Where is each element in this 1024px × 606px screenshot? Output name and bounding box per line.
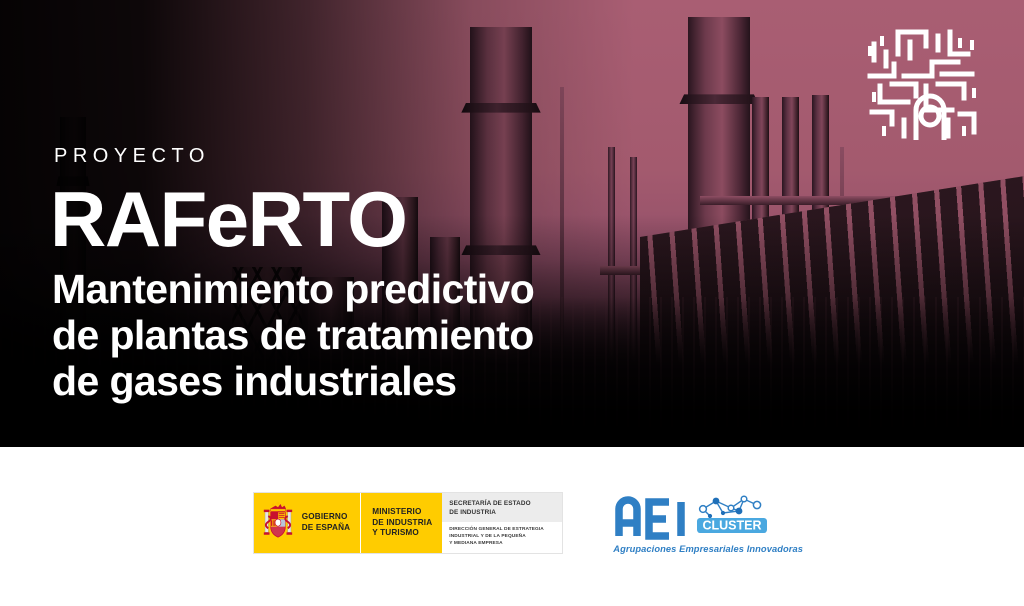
aei-wordmark-graphic: CLUSTER <box>611 492 771 542</box>
direccion-line-1: DIRECCIÓN GENERAL DE ESTRATEGIA <box>449 527 556 534</box>
gobierno-label: GOBIERNO DE ESPAÑA <box>302 512 351 534</box>
direccion-line-2: INDUSTRIAL Y DE LA PEQUEÑA <box>449 534 556 541</box>
ministerio-line-2: DE INDUSTRIA <box>372 518 432 529</box>
gobierno-de-espana-logo: GOBIERNO DE ESPAÑA MINISTERIO DE INDUSTR… <box>253 492 564 554</box>
hero-subtitle-line-1: Mantenimiento predictivo <box>52 266 534 312</box>
gobierno-line-1: GOBIERNO <box>302 512 351 523</box>
secretaria-block: SECRETARÍA DE ESTADO DE INDUSTRIA DIRECC… <box>442 493 562 553</box>
secretaria-title-line-1: SECRETARÍA DE ESTADO <box>449 500 556 509</box>
gobierno-block: GOBIERNO DE ESPAÑA <box>254 493 361 553</box>
poster-page: PROYECTO RAFeRTO Mantenimiento predictiv… <box>0 0 1024 606</box>
aei-cluster-logo: CLUSTER Agrupaciones Empresariales Innov… <box>611 492 771 554</box>
hero-subtitle: Mantenimiento predictivo de plantas de t… <box>52 266 534 405</box>
aei-tagline: Agrupaciones Empresariales Innovadoras <box>613 544 803 554</box>
secretaria-title-line-2: DE INDUSTRIA <box>449 509 556 518</box>
ministerio-line-1: MINISTERIO <box>372 507 432 518</box>
footer-logo-bar: GOBIERNO DE ESPAÑA MINISTERIO DE INDUSTR… <box>0 447 1024 606</box>
hero-subtitle-line-2: de plantas de tratamiento <box>52 312 534 358</box>
ministerio-line-3: Y TURISMO <box>372 528 432 539</box>
eyebrow-label: PROYECTO <box>54 146 534 166</box>
gobierno-line-2: DE ESPAÑA <box>302 523 351 534</box>
circuit-board-logo-mark <box>864 24 982 142</box>
direccion-general-text: DIRECCIÓN GENERAL DE ESTRATEGIA INDUSTRI… <box>442 522 562 553</box>
logo-row: GOBIERNO DE ESPAÑA MINISTERIO DE INDUSTR… <box>0 492 1024 554</box>
hero-text-block: PROYECTO RAFeRTO Mantenimiento predictiv… <box>54 146 534 405</box>
hero-banner: PROYECTO RAFeRTO Mantenimiento predictiv… <box>0 0 1024 447</box>
aei-cluster-badge-text: CLUSTER <box>703 518 762 532</box>
ministerio-block: MINISTERIO DE INDUSTRIA Y TURISMO <box>360 493 442 553</box>
direccion-line-3: Y MEDIANA EMPRESA <box>449 541 556 548</box>
escudo-de-espana-icon <box>261 499 295 548</box>
hero-subtitle-line-3: de gases industriales <box>52 358 534 404</box>
ministerio-label: MINISTERIO DE INDUSTRIA Y TURISMO <box>372 507 432 539</box>
page-title: RAFeRTO <box>50 184 534 256</box>
secretaria-title: SECRETARÍA DE ESTADO DE INDUSTRIA <box>442 493 562 522</box>
